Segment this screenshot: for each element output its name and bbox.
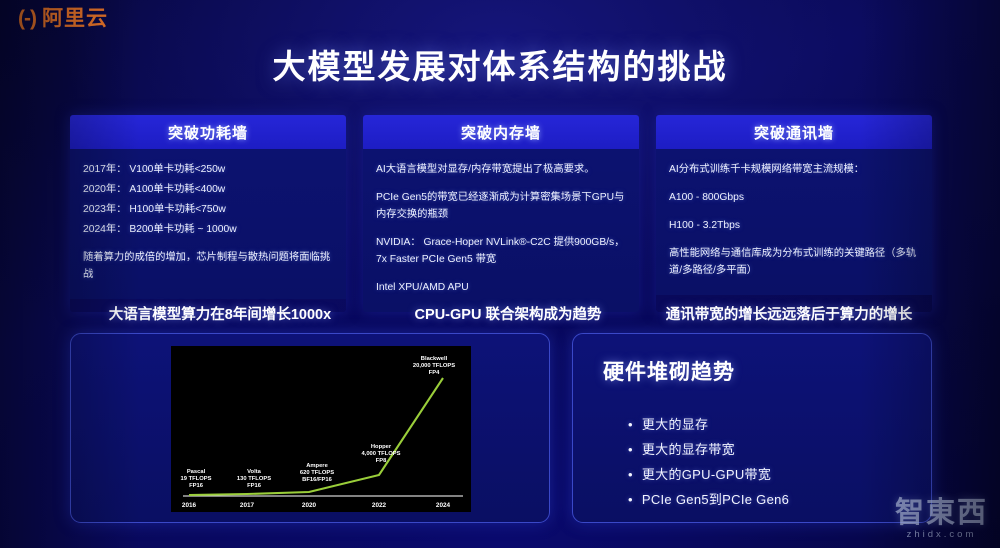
chart-point-label-volta-precision: FP16 [247, 483, 262, 489]
chart-tick-2020: 2020 [302, 502, 317, 509]
chart-point-label-blackwell-precision: FP4 [429, 370, 440, 376]
card-heading: 突破内存墙 [363, 115, 639, 149]
chart-point-label-blackwell-value: 20,000 TFLOPS [413, 363, 455, 369]
card-power-wall: 突破功耗墙 2017年： V100单卡功耗<250w 2020年： A100单卡… [70, 115, 346, 312]
list-item: • 更大的显存 [628, 412, 789, 437]
slide-root: (-) 阿里云 大模型发展对体系结构的挑战 突破功耗墙 2017年： V100单… [0, 0, 1000, 548]
card-body: AI分布式训练千卡规模网络带宽主流规模： A100 - 800Gbps H100… [656, 149, 932, 295]
bullet-icon: • [628, 462, 633, 487]
bullet-icon: • [628, 437, 633, 462]
card-note: 随着算力的成倍的增加，芯片制程与散热问题将面临挑战 [83, 249, 333, 283]
gpu-performance-chart: 2016 2017 2020 2022 2024 Pascal 19 TFLOP… [171, 346, 471, 512]
list-item-label: 更大的显存 [642, 412, 709, 437]
list-item: • PCIe Gen5到PCIe Gen6 [628, 487, 789, 512]
bullet-icon: • [628, 412, 633, 437]
hardware-trend-title: 硬件堆砌趋势 [603, 356, 735, 386]
watermark-domain: zhidx.com [895, 529, 988, 540]
brand-name: 阿里云 [42, 8, 108, 29]
chart-point-label-hopper-value: 4,000 TFLOPS [362, 451, 401, 457]
caption-cpu-gpu-trend: CPU-GPU 联合架构成为趋势 [370, 303, 646, 324]
chart-point-label-hopper-name: Hopper [371, 444, 392, 450]
card-line: 2017年： V100单卡功耗<250w [83, 161, 333, 178]
card-line: 2020年： A100单卡功耗<400w [83, 181, 333, 198]
chart-point-label-ampere-name: Ampere [306, 463, 328, 469]
list-item: • 更大的GPU-GPU带宽 [628, 462, 789, 487]
card-heading: 突破功耗墙 [70, 115, 346, 149]
chart-tick-2016: 2016 [182, 502, 197, 509]
chart-background [171, 346, 471, 512]
chart-point-label-pascal-precision: FP16 [189, 483, 204, 489]
card-communication-wall: 突破通讯墙 AI分布式训练千卡规模网络带宽主流规模： A100 - 800Gbp… [656, 115, 932, 312]
chart-point-label-pascal-value: 19 TFLOPS [181, 476, 212, 482]
chart-point-label-volta-value: 130 TFLOPS [237, 476, 271, 482]
list-item: • 更大的显存带宽 [628, 437, 789, 462]
chart-point-label-ampere-value: 620 TFLOPS [300, 470, 334, 476]
brand-mark-icon: (-) [18, 8, 36, 29]
card-line: 2024年： B200单卡功耗 ~ 1000w [83, 221, 333, 238]
card-line: AI大语言模型对显存/内存带宽提出了极高要求。 [376, 161, 626, 178]
chart-point-label-volta-name: Volta [247, 469, 262, 475]
list-item-label: PCIe Gen5到PCIe Gen6 [642, 487, 789, 512]
card-line: 2023年： H100单卡功耗<750w [83, 201, 333, 218]
card-line: NVIDIA： Grace-Hoper NVLink®-C2C 提供900GB/… [376, 234, 626, 268]
card-memory-wall: 突破内存墙 AI大语言模型对显存/内存带宽提出了极高要求。 PCIe Gen5的… [363, 115, 639, 312]
watermark-logo: 智東西 [895, 498, 988, 528]
card-line: Intel XPU/AMD APU [376, 279, 626, 296]
caption-bandwidth-lag: 通讯带宽的增长远远落后于算力的增长 [646, 303, 932, 324]
card-line: H100 - 3.2Tbps [669, 217, 919, 234]
chart-svg: 2016 2017 2020 2022 2024 Pascal 19 TFLOP… [171, 346, 471, 512]
chart-panel: 2016 2017 2020 2022 2024 Pascal 19 TFLOP… [70, 333, 550, 523]
chart-tick-2024: 2024 [436, 502, 451, 509]
card-heading: 突破通讯墙 [656, 115, 932, 149]
chart-tick-2022: 2022 [372, 502, 387, 509]
chart-tick-2017: 2017 [240, 502, 255, 509]
bullet-icon: • [628, 487, 633, 512]
watermark: 智東西 zhidx.com [895, 498, 988, 540]
chart-point-label-ampere-precision: BF16/FP16 [302, 477, 332, 483]
cards-row: 突破功耗墙 2017年： V100单卡功耗<250w 2020年： A100单卡… [70, 115, 932, 312]
card-note: 高性能网络与通信库成为分布式训练的关键路径（多轨道/多路径/多平面） [669, 245, 919, 279]
chart-point-label-blackwell-name: Blackwell [421, 356, 448, 362]
list-item-label: 更大的GPU-GPU带宽 [642, 462, 771, 487]
card-line: A100 - 800Gbps [669, 189, 919, 206]
page-title: 大模型发展对体系结构的挑战 [0, 40, 1000, 88]
alibaba-cloud-logo: (-) 阿里云 [18, 8, 108, 29]
card-body: AI大语言模型对显存/内存带宽提出了极高要求。 PCIe Gen5的带宽已经逐渐… [363, 149, 639, 312]
caption-compute-growth: 大语言模型算力在8年间增长1000x [70, 303, 370, 324]
card-line: PCIe Gen5的带宽已经逐渐成为计算密集场景下GPU与内存交换的瓶颈 [376, 189, 626, 223]
list-item-label: 更大的显存带宽 [642, 437, 735, 462]
card-line: AI分布式训练千卡规模网络带宽主流规模： [669, 161, 919, 178]
hardware-trend-panel: 硬件堆砌趋势 • 更大的显存 • 更大的显存带宽 • 更大的GPU-GPU带宽 … [572, 333, 932, 523]
captions-row: 大语言模型算力在8年间增长1000x CPU-GPU 联合架构成为趋势 通讯带宽… [70, 303, 932, 324]
card-body: 2017年： V100单卡功耗<250w 2020年： A100单卡功耗<400… [70, 149, 346, 299]
chart-point-label-pascal-name: Pascal [187, 469, 206, 475]
chart-point-label-hopper-precision: FP8 [376, 458, 387, 464]
hardware-trend-list: • 更大的显存 • 更大的显存带宽 • 更大的GPU-GPU带宽 • PCIe … [628, 412, 789, 512]
